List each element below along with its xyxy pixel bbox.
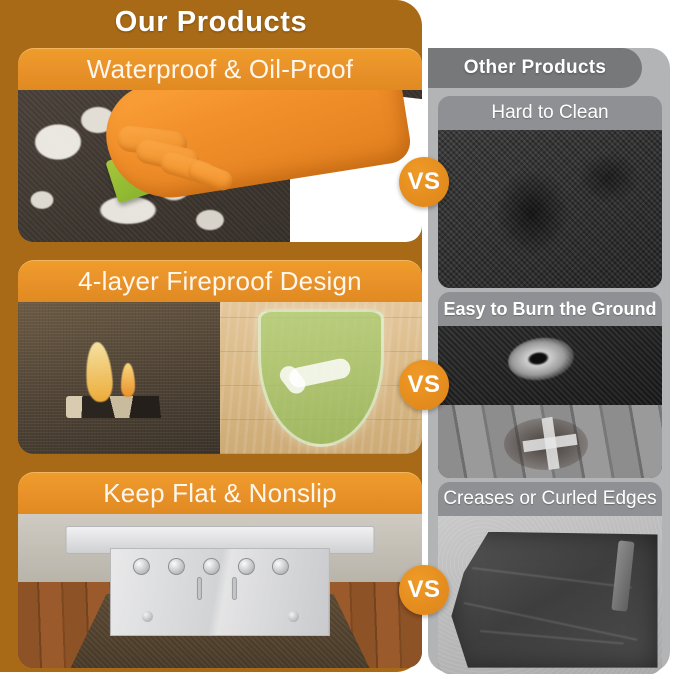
feature-label-nonslip: Keep Flat & Nonslip	[18, 472, 422, 514]
scorched-deck-boards	[438, 405, 662, 478]
flame-icon	[84, 341, 114, 403]
grill-knob	[272, 558, 289, 575]
grill-caster-wheel	[288, 611, 299, 622]
other-products-title: Other Products	[428, 48, 642, 88]
other-feature-label-creases: Creases or Curled Edges	[438, 482, 662, 516]
other-feature-photo-creases	[438, 516, 662, 674]
wood-deck-background	[220, 302, 422, 454]
grill-knob	[237, 558, 254, 575]
feature-label-waterproof: Waterproof & Oil-Proof	[18, 48, 422, 90]
product-comparison-infographic: Our Products Waterproof & Oil-Proof 4-la…	[0, 0, 679, 679]
grill-door-handle	[198, 578, 201, 599]
other-product-feature-hard-to-clean: Hard to Clean	[438, 96, 662, 288]
flame-icon	[121, 363, 135, 397]
mat-with-burn-hole	[438, 326, 662, 405]
our-products-panel: Our Products Waterproof & Oil-Proof 4-la…	[0, 0, 422, 672]
grill-caster-wheel	[141, 611, 152, 622]
burn-hole	[505, 334, 576, 385]
feature-photo-fireproof	[18, 302, 422, 454]
shield-icon	[258, 309, 384, 447]
burning-matchsticks	[66, 396, 167, 418]
grill-knob	[168, 558, 185, 575]
our-product-feature-waterproof: Waterproof & Oil-Proof	[18, 48, 422, 242]
our-product-feature-fireproof: 4-layer Fireproof Design	[18, 260, 422, 454]
feature-photo-waterproof	[18, 90, 422, 242]
crease-line	[472, 567, 632, 589]
grill-knob	[133, 558, 150, 575]
feature-label-fireproof: 4-layer Fireproof Design	[18, 260, 422, 302]
vs-badge-1: VS	[399, 157, 449, 207]
vs-badge-2: VS	[399, 360, 449, 410]
grill-cabinet	[110, 548, 330, 636]
grill-door-handle	[233, 578, 236, 599]
grill-knob	[203, 558, 220, 575]
other-feature-photo-burn-ground	[438, 326, 662, 478]
checkmark-icon	[287, 356, 352, 388]
other-feature-label-hard-to-clean: Hard to Clean	[438, 96, 662, 130]
our-product-feature-nonslip: Keep Flat & Nonslip	[18, 472, 422, 668]
other-product-feature-burn-ground: Easy to Burn the Ground	[438, 292, 662, 478]
vs-badge-3: VS	[399, 565, 449, 615]
other-feature-label-burn-ground: Easy to Burn the Ground	[438, 292, 662, 326]
fireproof-mat-with-flame	[18, 302, 220, 454]
feature-photo-nonslip	[18, 514, 422, 668]
other-feature-photo-hard-to-clean	[438, 130, 662, 288]
other-product-feature-creases: Creases or Curled Edges	[438, 482, 662, 674]
dirty-stained-mat	[438, 130, 662, 288]
our-products-title: Our Products	[0, 6, 422, 39]
